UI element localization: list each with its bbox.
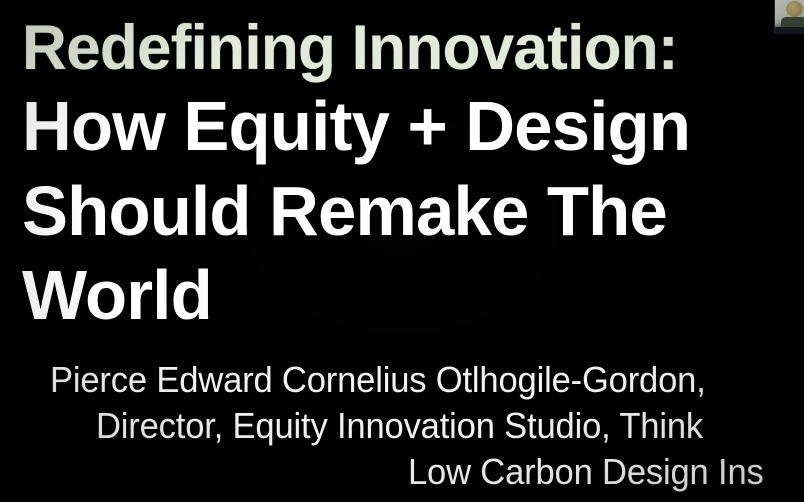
webcam-person-head (786, 1, 803, 17)
presenter-title: Director, Equity Innovation Studio, Thin… (96, 404, 703, 448)
slide-title-line-2: How Equity + Design (22, 88, 690, 164)
webcam-pip-overlay[interactable] (774, 0, 804, 34)
presenter-name: Pierce Edward Cornelius Otlhogile-Gordon… (50, 358, 706, 402)
slide-title-line-4: World (22, 257, 212, 333)
presenter-affiliation: Low Carbon Design Ins (408, 450, 764, 494)
webcam-pip-bottom-bar (775, 27, 804, 34)
slide-title-line-3: Should Remake The (22, 173, 667, 249)
slide-title-line-1: Redefining Innovation: (22, 14, 678, 82)
presentation-slide: Redefining Innovation: How Equity + Desi… (0, 0, 804, 502)
